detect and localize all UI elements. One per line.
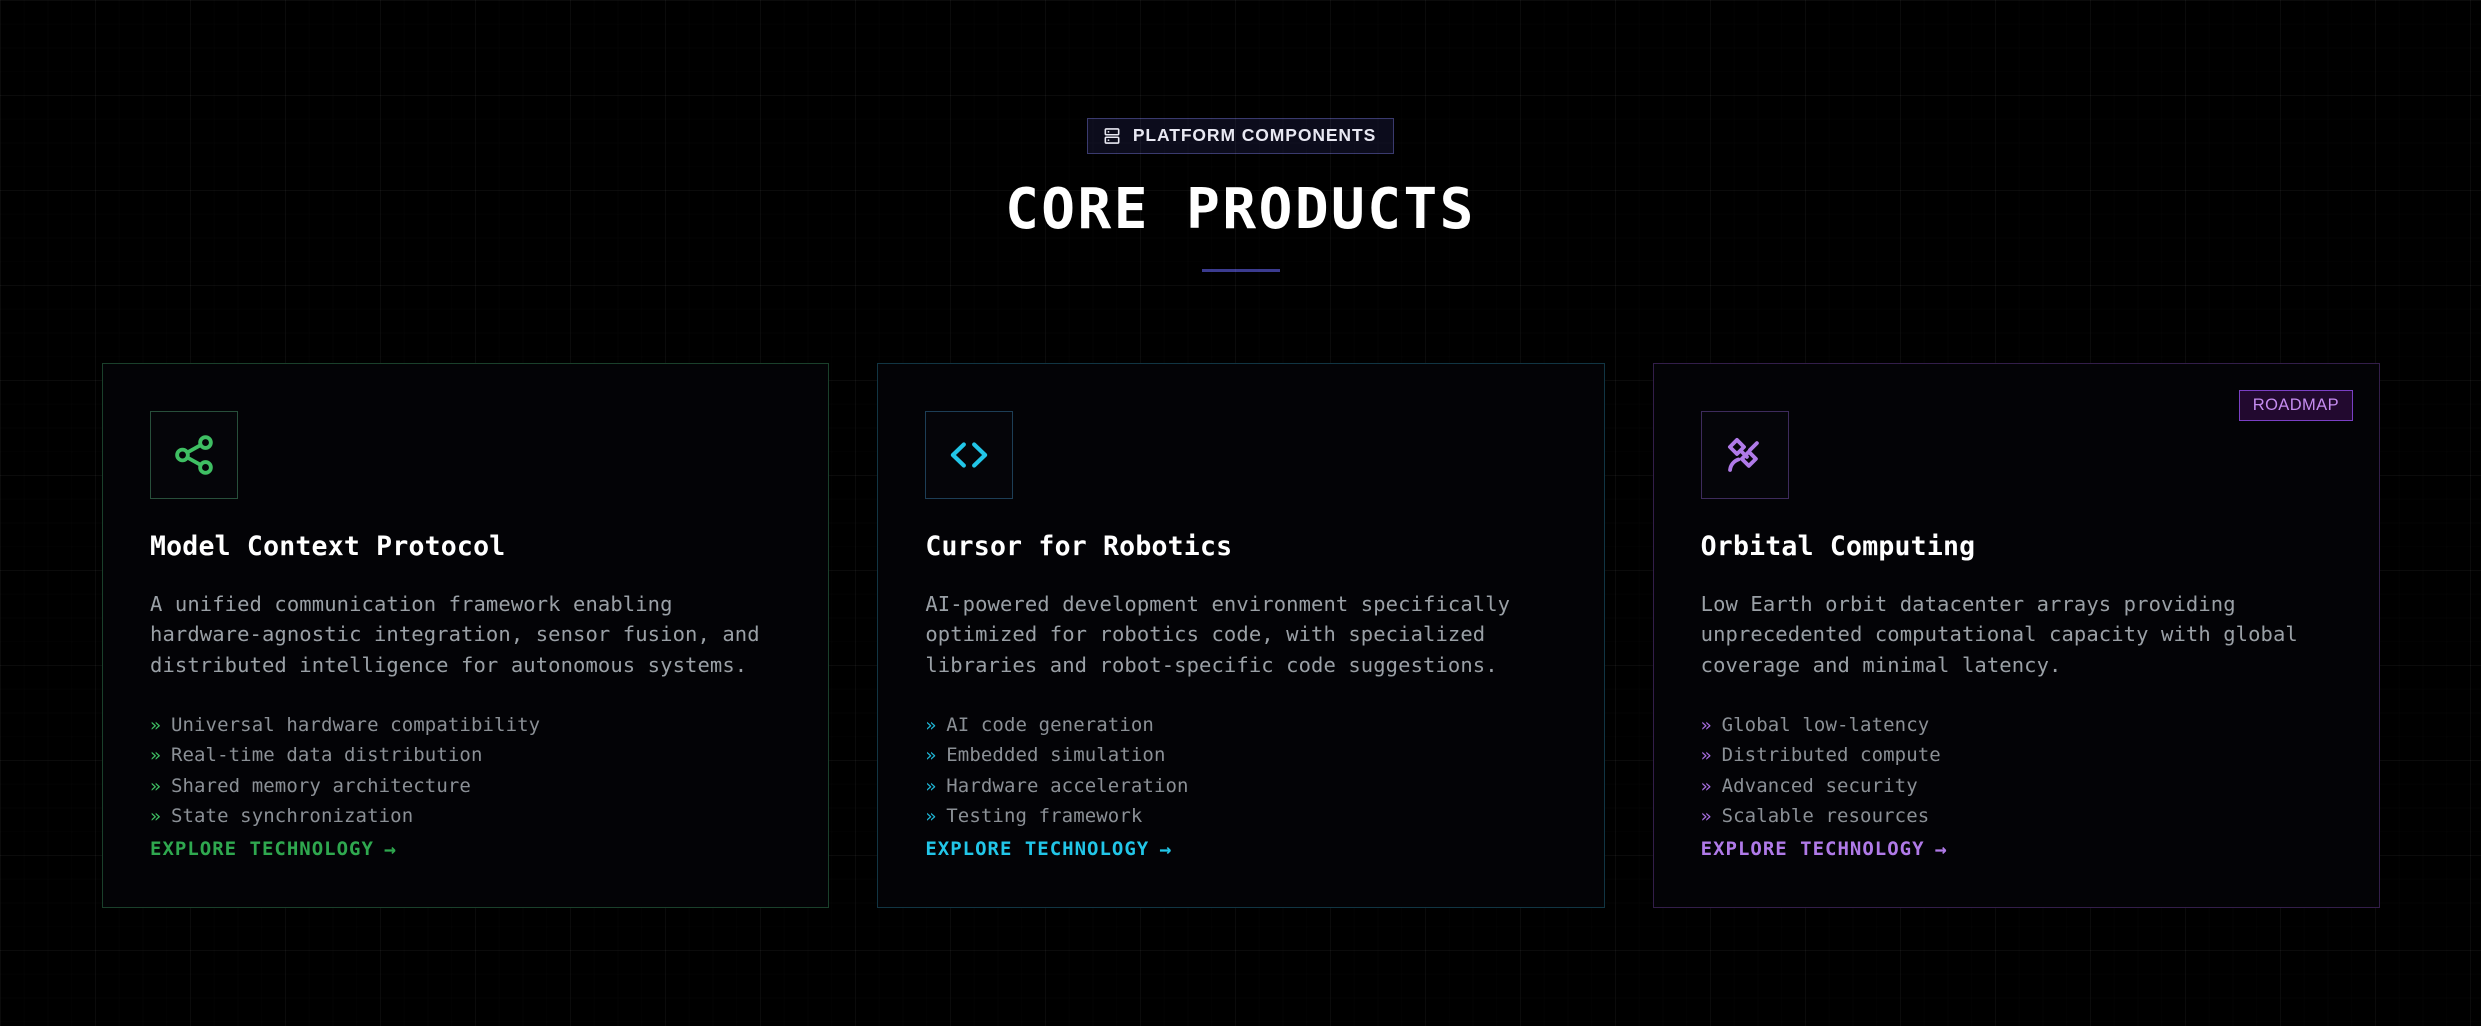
chevron-bullet-icon: » [150, 742, 161, 770]
card-description: Low Earth orbit datacenter arrays provid… [1701, 589, 2332, 681]
page-title: CORE PRODUCTS [0, 182, 2481, 238]
cta-label: EXPLORE TECHNOLOGY [925, 838, 1149, 860]
feature-label: Distributed compute [1722, 740, 1941, 770]
product-card-model-context-protocol[interactable]: Model Context Protocol A unified communi… [102, 363, 829, 908]
feature-label: Embedded simulation [946, 740, 1165, 770]
chevron-bullet-icon: » [1701, 742, 1712, 770]
feature-label: AI code generation [946, 710, 1154, 740]
chevron-bullet-icon: » [925, 803, 936, 831]
chevron-bullet-icon: » [1701, 773, 1712, 801]
product-card-orbital-computing[interactable]: ROADMAP Orbital Computing Low Earth orbi… [1653, 363, 2380, 908]
chevron-bullet-icon: » [925, 773, 936, 801]
chevron-bullet-icon: » [1701, 712, 1712, 740]
feature-label: State synchronization [171, 801, 413, 831]
card-title: Model Context Protocol [150, 534, 781, 561]
cta-label: EXPLORE TECHNOLOGY [1701, 838, 1925, 860]
chevron-bullet-icon: » [150, 773, 161, 801]
explore-technology-link[interactable]: EXPLORE TECHNOLOGY → [1701, 838, 1948, 860]
list-item: » Shared memory architecture [150, 771, 781, 801]
feature-label: Hardware acceleration [946, 771, 1188, 801]
feature-label: Real-time data distribution [171, 740, 483, 770]
feature-label: Universal hardware compatibility [171, 710, 540, 740]
list-item: » Testing framework [925, 801, 1556, 831]
platform-components-label: PLATFORM COMPONENTS [1133, 127, 1376, 145]
list-item: » Global low-latency [1701, 710, 2332, 740]
list-item: » Advanced security [1701, 771, 2332, 801]
feature-label: Testing framework [946, 801, 1142, 831]
feature-label: Scalable resources [1722, 801, 1930, 831]
server-stack-icon [1102, 126, 1122, 146]
arrow-right-icon: → [1935, 839, 1948, 859]
list-item: » Real-time data distribution [150, 740, 781, 770]
core-products-section: PLATFORM COMPONENTS CORE PRODUCTS Model … [0, 0, 2481, 1026]
card-title: Orbital Computing [1701, 534, 2332, 561]
feature-list: » Global low-latency » Distributed compu… [1701, 710, 2332, 832]
list-item: » Hardware acceleration [925, 771, 1556, 801]
list-item: » Scalable resources [1701, 801, 2332, 831]
chevron-bullet-icon: » [1701, 803, 1712, 831]
chevron-bullet-icon: » [925, 712, 936, 740]
section-header: PLATFORM COMPONENTS CORE PRODUCTS [0, 0, 2481, 272]
list-item: » Universal hardware compatibility [150, 710, 781, 740]
platform-components-badge: PLATFORM COMPONENTS [1087, 118, 1394, 154]
arrow-right-icon: → [384, 839, 397, 859]
feature-list: » Universal hardware compatibility » Rea… [150, 710, 781, 832]
card-title: Cursor for Robotics [925, 534, 1556, 561]
cta-label: EXPLORE TECHNOLOGY [150, 838, 374, 860]
chevron-bullet-icon: » [150, 712, 161, 740]
feature-label: Shared memory architecture [171, 771, 471, 801]
chevron-bullet-icon: » [150, 803, 161, 831]
product-card-list: Model Context Protocol A unified communi… [102, 363, 2380, 908]
feature-label: Advanced security [1722, 771, 1918, 801]
code-brackets-icon [925, 411, 1013, 499]
explore-technology-link[interactable]: EXPLORE TECHNOLOGY → [150, 838, 397, 860]
list-item: » Distributed compute [1701, 740, 2332, 770]
feature-label: Global low-latency [1722, 710, 1930, 740]
card-description: AI-powered development environment speci… [925, 589, 1556, 681]
list-item: » State synchronization [150, 801, 781, 831]
satellite-icon [1701, 411, 1789, 499]
list-item: » Embedded simulation [925, 740, 1556, 770]
card-description: A unified communication framework enabli… [150, 589, 781, 681]
share-nodes-icon [150, 411, 238, 499]
feature-list: » AI code generation » Embedded simulati… [925, 710, 1556, 832]
explore-technology-link[interactable]: EXPLORE TECHNOLOGY → [925, 838, 1172, 860]
title-divider [1202, 269, 1280, 272]
arrow-right-icon: → [1159, 839, 1172, 859]
product-card-cursor-for-robotics[interactable]: Cursor for Robotics AI-powered developme… [877, 363, 1604, 908]
list-item: » AI code generation [925, 710, 1556, 740]
chevron-bullet-icon: » [925, 742, 936, 770]
status-badge: ROADMAP [2239, 390, 2353, 421]
